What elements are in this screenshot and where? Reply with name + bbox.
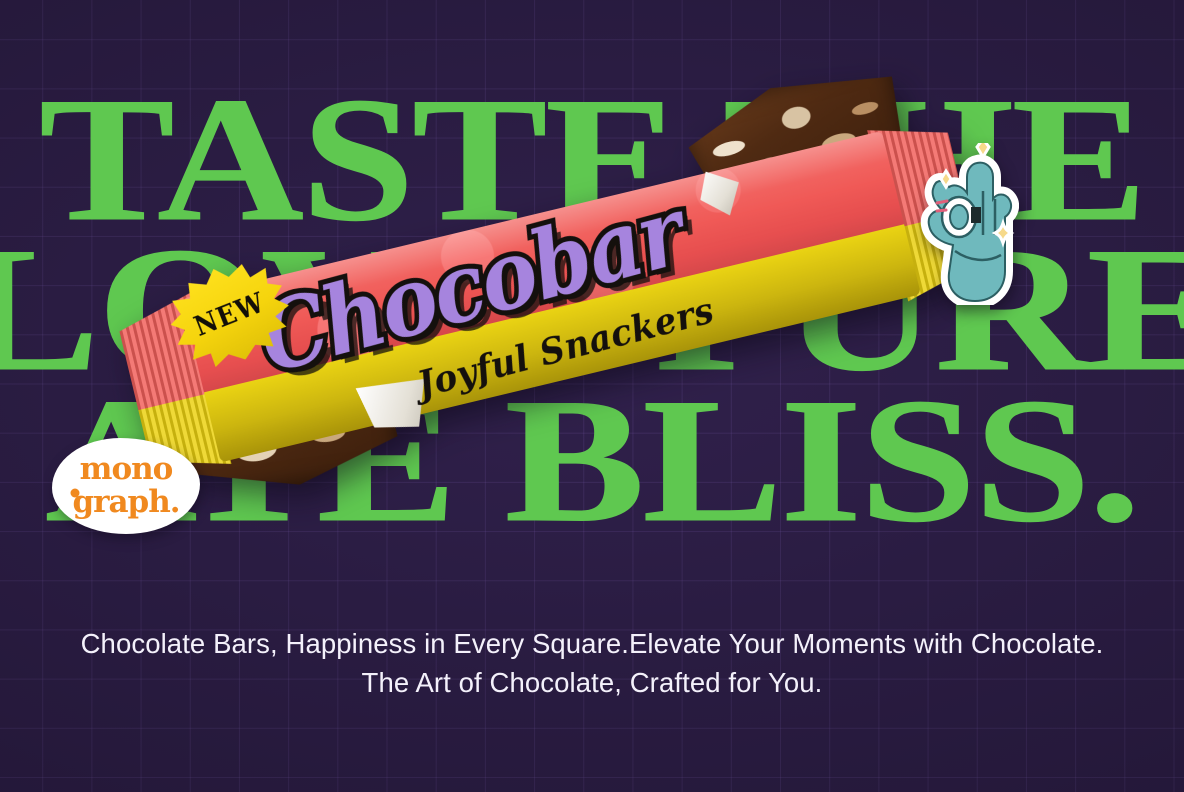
monograph-line-1: mono [52, 454, 200, 485]
monograph-sticker: mono graph. [52, 438, 200, 534]
ok-hand-sticker [915, 143, 1019, 305]
ok-hand-icon [915, 143, 1019, 305]
monograph-line-2: graph. [52, 487, 200, 518]
poster-canvas: TASTE THE LOVE. PURE ATE BLISS. Chocobar… [0, 0, 1184, 792]
body-copy: Chocolate Bars, Happiness in Every Squar… [67, 624, 1117, 702]
